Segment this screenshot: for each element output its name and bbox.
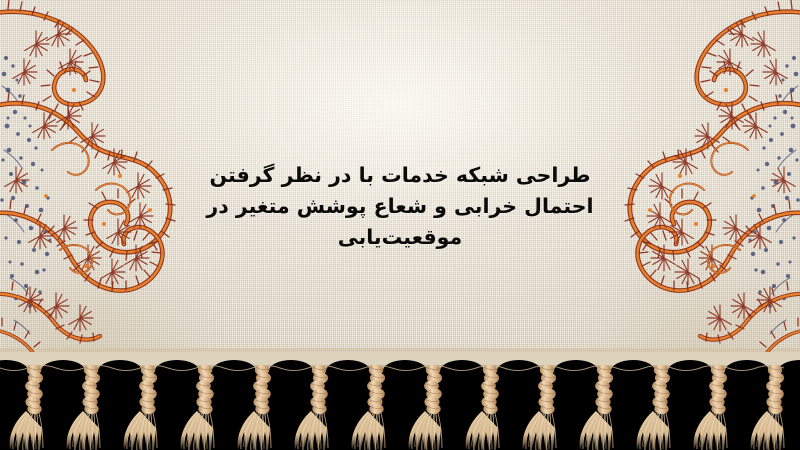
slide-title: طراحی شبکه خدمات با در نظر گرفتن احتمال …	[140, 160, 660, 253]
presentation-title-slide: طراحی شبکه خدمات با در نظر گرفتن احتمال …	[0, 0, 800, 450]
tassel-fringe	[0, 352, 800, 450]
title-line-3: موقعیت‌یابی	[140, 222, 660, 253]
title-line-1: طراحی شبکه خدمات با در نظر گرفتن	[140, 160, 660, 191]
title-line-2: احتمال خرابی و شعاع پوشش متغیر در	[140, 191, 660, 222]
